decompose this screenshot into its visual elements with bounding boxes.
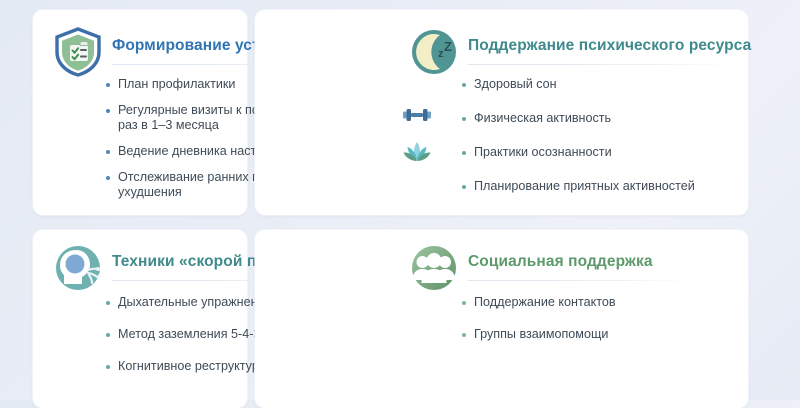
list-item: Здоровый сон [460, 77, 735, 92]
list-item: Физическая активность [460, 111, 735, 126]
card-mental-resource-divider [468, 64, 740, 65]
card-social-support-list: Поддержание контактов Группы взаимопомощ… [460, 295, 722, 342]
card-mental-resource-content: z Z Поддержание психического ресурса [408, 24, 738, 80]
card-social-support-title: Социальная поддержка [468, 253, 653, 271]
head-breathing-icon [52, 242, 104, 294]
card-mental-resource-list: Здоровый сон Физическая активность Практ… [460, 77, 735, 194]
list-item-label: Практики осознанности [474, 145, 612, 159]
people-group-icon [408, 242, 460, 294]
card-social-support-content: Социальная поддержка Поддержание контакт… [408, 240, 738, 296]
list-item-label: Поддержание контактов [474, 295, 616, 309]
dumbbell-icon [402, 103, 432, 127]
list-item: Поддержание контактов [460, 295, 722, 310]
list-item-label: Планирование приятных активностей [474, 179, 695, 193]
list-item: Группы взаимопомощи [460, 327, 722, 342]
card-social-support-divider [468, 280, 693, 281]
svg-text:Z: Z [444, 39, 452, 54]
list-item-label: Здоровый сон [474, 77, 557, 91]
list-item: Практики осознанности [460, 145, 735, 160]
shield-checklist-icon [52, 26, 104, 78]
list-item-label: План профилактики [118, 77, 235, 91]
list-item-label: Физическая активность [474, 111, 611, 125]
card-mental-resource-header: z Z Поддержание психического ресурса [408, 24, 738, 80]
card-social-support-header: Социальная поддержка [408, 240, 738, 296]
list-item-label: Группы взаимопомощи [474, 327, 608, 341]
list-item: Планирование приятных активностей [460, 179, 735, 194]
moon-sleep-icon: z Z [408, 26, 460, 78]
card-mental-resource-title: Поддержание психического ресурса [468, 37, 751, 55]
list-item-label: Дыхательные упражнения [118, 295, 271, 309]
lotus-icon [402, 139, 432, 167]
infographic-canvas: Формирование устойчивых навыков План про… [0, 0, 800, 400]
